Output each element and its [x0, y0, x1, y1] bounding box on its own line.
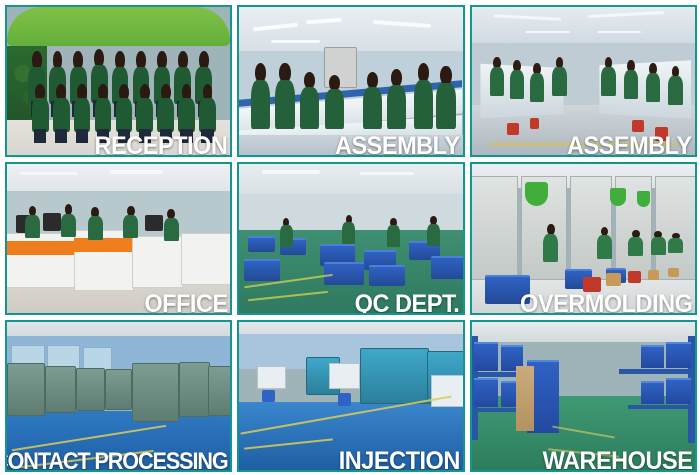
photo-cell-reception[interactable]: RECEPTION: [5, 5, 232, 157]
photo-cell-qc-dept[interactable]: QC DEPT.: [237, 162, 464, 314]
photo-cell-contact-processing[interactable]: CONTACT PROCESSING: [5, 320, 232, 472]
photo-cell-assembly-1[interactable]: ASSEMBLY: [237, 5, 464, 157]
photo-overmolding: [472, 164, 695, 312]
photo-qc-dept: [239, 164, 462, 312]
photo-assembly-1: [239, 7, 462, 155]
photo-contact-processing: [7, 322, 230, 470]
photo-assembly-2: [472, 7, 695, 155]
photo-cell-overmolding[interactable]: OVERMOLDING: [470, 162, 697, 314]
factory-photo-grid: RECEPTION ASSEMBLY: [0, 0, 700, 475]
photo-cell-office[interactable]: OFFICE: [5, 162, 232, 314]
photo-injection: [239, 322, 462, 470]
photo-office: [7, 164, 230, 312]
photo-cell-injection[interactable]: INJECTION: [237, 320, 464, 472]
photo-cell-assembly-2[interactable]: ASSEMBLY: [470, 5, 697, 157]
photo-reception: [7, 7, 230, 155]
photo-warehouse: [472, 322, 695, 470]
photo-cell-warehouse[interactable]: WAREHOUSE: [470, 320, 697, 472]
